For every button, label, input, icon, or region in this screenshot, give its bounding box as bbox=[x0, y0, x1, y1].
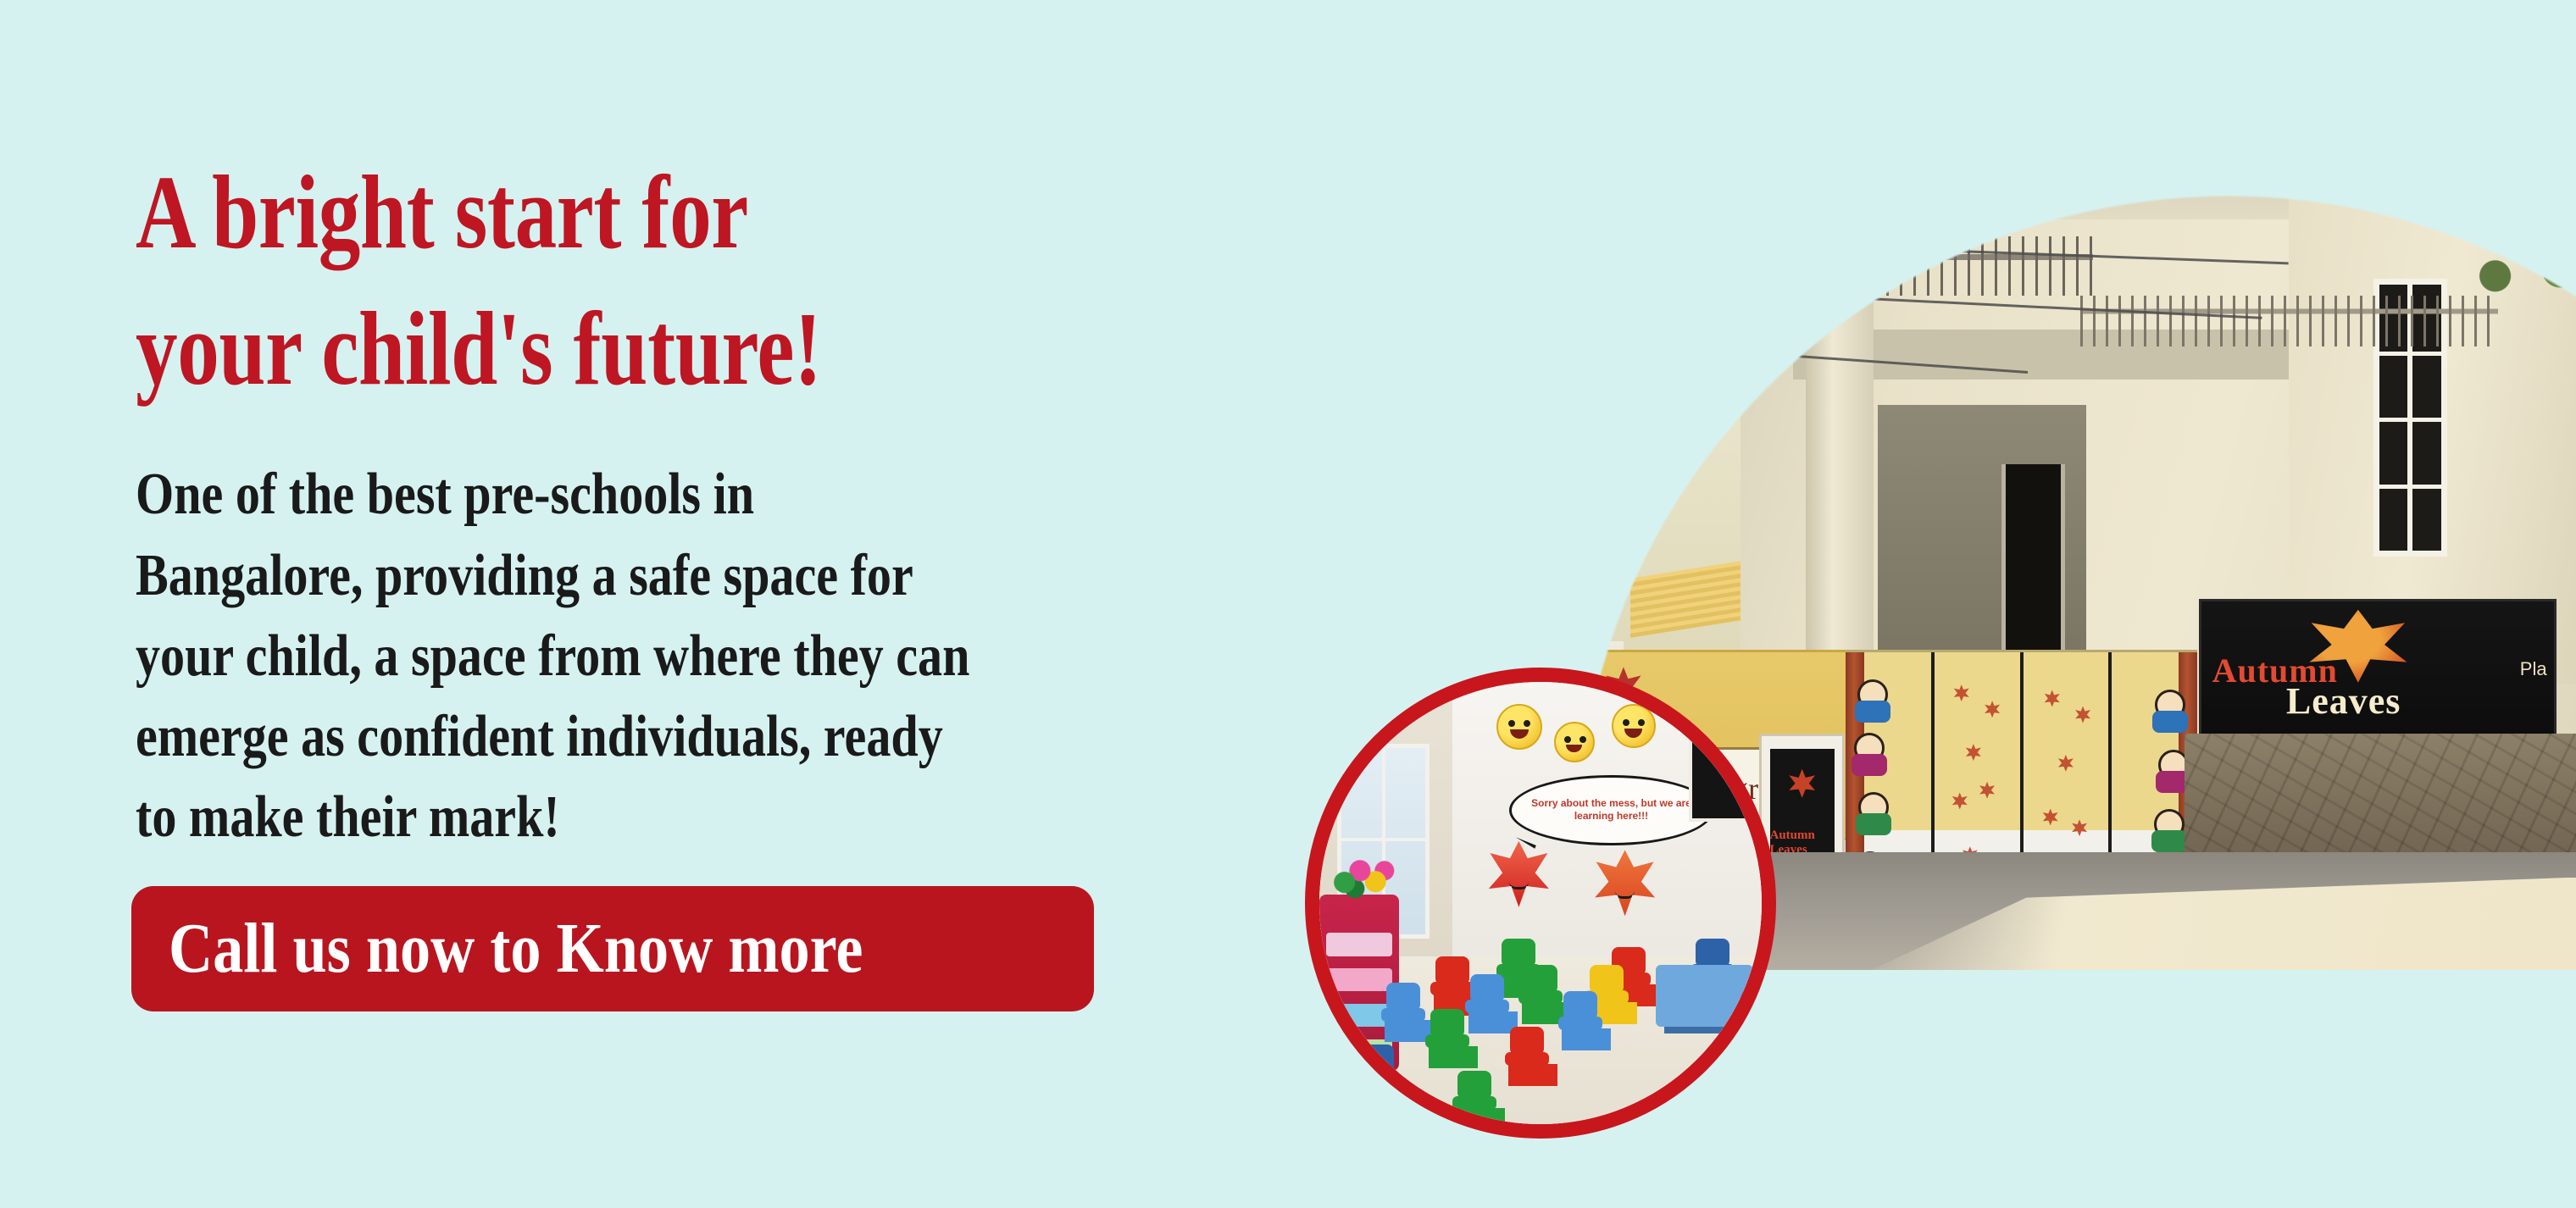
wire-tag bbox=[1624, 228, 1635, 263]
kids-chair bbox=[1518, 965, 1563, 1024]
classroom-scene: Sorry about the mess, but we are learnin… bbox=[1319, 682, 1762, 1124]
child-painting bbox=[2155, 690, 2185, 720]
call-us-button[interactable]: Call us now to Know more bbox=[131, 886, 1094, 1011]
cta-wrapper: Call us now to Know more bbox=[131, 886, 1094, 1011]
speech-bubble: Sorry about the mess, but we are learnin… bbox=[1509, 775, 1713, 846]
page-title: A bright start for your child's future! bbox=[136, 144, 1098, 417]
tree-foliage-right bbox=[2433, 161, 2576, 346]
ball-toys bbox=[1333, 859, 1397, 898]
child-painting bbox=[1857, 679, 1888, 710]
kids-chair bbox=[1381, 983, 1425, 1042]
kids-chair bbox=[1505, 1027, 1549, 1086]
tree-foliage-left bbox=[1349, 178, 1688, 464]
child-painting bbox=[1854, 733, 1885, 763]
kids-chair bbox=[1452, 1071, 1496, 1130]
photo-area: A B C D E Playgroup Autumn Leaves P bbox=[1271, 0, 2576, 1208]
smiley-face-icon bbox=[1496, 704, 1542, 750]
activity-table bbox=[1656, 965, 1753, 1027]
stone-plinth bbox=[2185, 734, 2576, 868]
wall-poster bbox=[1689, 700, 1757, 822]
child-painting bbox=[1858, 792, 1889, 823]
child-painting bbox=[2154, 809, 2185, 840]
signboard-word-leaves: Leaves bbox=[2286, 679, 2401, 723]
kids-chair bbox=[1558, 991, 1602, 1050]
kids-chair bbox=[1355, 1045, 1399, 1104]
maple-leaf-icon bbox=[1788, 769, 1817, 798]
signboard-word-playgroup: Pla bbox=[2520, 658, 2547, 680]
autumn-leaves-signboard: Autumn Leaves Pla bbox=[2199, 599, 2557, 739]
promo-banner: A bright start for your child's future! … bbox=[0, 0, 2576, 1208]
call-us-button-label: Call us now to Know more bbox=[169, 886, 863, 1011]
smiley-face-icon bbox=[1554, 722, 1595, 762]
balcony-railing-upper bbox=[1846, 236, 2094, 296]
smiley-face-icon bbox=[1612, 704, 1656, 748]
kids-chair bbox=[1465, 974, 1509, 1033]
kids-chair bbox=[1425, 1009, 1469, 1068]
copy-block: A bright start for your child's future! … bbox=[136, 144, 1339, 857]
classroom-inset-photo: Sorry about the mess, but we are learnin… bbox=[1305, 668, 1776, 1139]
body-paragraph: One of the best pre-schools in Bangalore… bbox=[136, 417, 1135, 857]
